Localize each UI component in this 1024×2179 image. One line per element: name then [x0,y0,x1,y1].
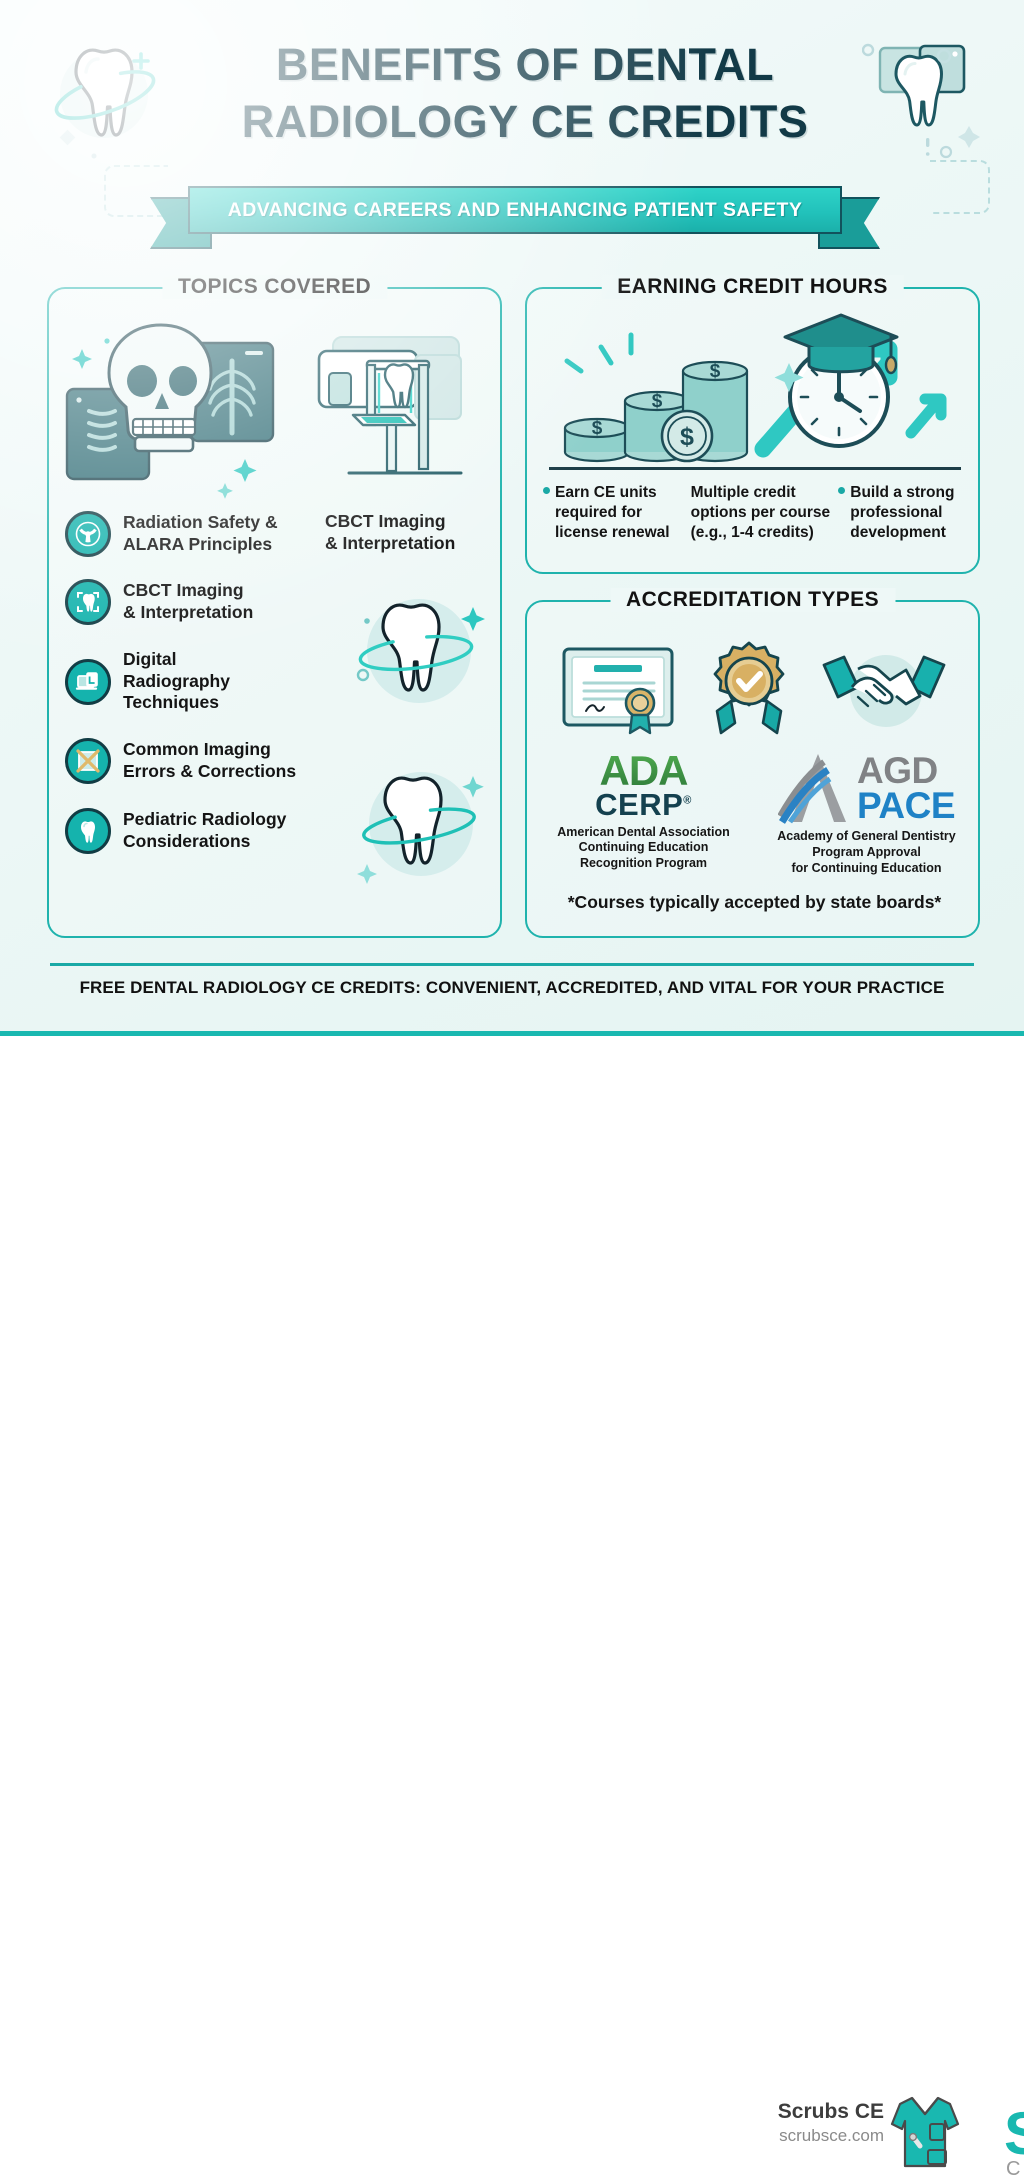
topic-1-line1: CBCT Imaging [123,580,253,602]
svg-text:$: $ [592,418,603,439]
credit-column-2: Build a strong professional development [838,483,968,543]
topic-row-0[interactable]: Radiation Safety & ALARA Principles [65,511,490,557]
credit-1-line1: Multiple credit [691,483,833,503]
topic-row-3[interactable]: Common Imaging Errors & Corrections [65,738,490,784]
topic-1-line2: & Interpretation [123,602,253,624]
accreditation-logos: ADA CERP® American Dental Association Co… [541,752,969,876]
credit-baseline [549,467,961,470]
topic-0-line1: Radiation Safety & [123,512,278,534]
scrub-top-icon [890,2094,960,2178]
footer-tagline: FREE DENTAL RADIOLOGY CE CREDITS: CONVEN… [0,978,1024,998]
infographic-canvas: BENEFITS OF DENTAL RADIOLOGY CE CREDITS … [0,0,1024,1036]
accreditation-icons [549,630,959,748]
credit-0-line2: required for [543,503,685,523]
title-line-2: RADIOLOGY CE CREDITS [175,93,875,150]
credit-0-line3: license renewal [543,523,685,543]
topic-2-line3: Techniques [123,692,230,714]
agd-lockup: AGD PACE [764,752,969,824]
brand-footer: Scrubs CE scrubsce.com S C [0,1041,1024,1154]
topic-2-line2: Radiography [123,671,230,693]
topic-row-2[interactable]: Digital Radiography Techniques [65,649,490,714]
subtitle-ribbon: ADVANCING CAREERS AND ENHANCING PATIENT … [150,186,880,244]
ada-sub-line2: Continuing Education [541,840,746,856]
topic-4-line1: Pediatric Radiology [123,809,286,831]
page-title: BENEFITS OF DENTAL RADIOLOGY CE CREDITS [175,36,875,150]
bullet-icon-0 [543,487,550,494]
circle-decor-icon [930,42,958,70]
credit-column-0: Earn CE units required for license renew… [543,483,685,543]
error-x-icon [65,738,111,784]
accreditation-note: *Courses typically accepted by state boa… [527,892,982,913]
credit-0-line1: Earn CE units [555,484,657,501]
cerp-wordmark: CERP® [541,789,746,820]
cerp-text: CERP [595,787,683,822]
brand-name: Scrubs CE [778,2099,884,2124]
topic-3-line2: Errors & Corrections [123,761,296,783]
ada-cerp-logo: ADA CERP® American Dental Association Co… [541,752,746,876]
topics-panel-title: TOPICS COVERED [162,275,387,299]
brand-text-block: Scrubs CE scrubsce.com [778,2099,884,2147]
earning-credit-hours-panel: EARNING CREDIT HOURS $ $ [525,287,980,574]
radiation-icon [65,511,111,557]
pace-wordmark: PACE [857,788,955,823]
tooth-icon [65,808,111,854]
topic-2-line1: Digital [123,649,230,671]
header: BENEFITS OF DENTAL RADIOLOGY CE CREDITS … [0,0,1024,258]
topics-list: Radiation Safety & ALARA Principles CBCT… [65,511,490,870]
agd-sub-line3: for Continuing Education [764,861,969,877]
accreditation-types-panel: ACCREDITATION TYPES [525,600,980,938]
topic-row-1[interactable]: CBCT Imaging & Interpretation [65,579,490,625]
award-medal-icon [701,639,797,739]
agd-sub-line2: Program Approval [764,845,969,861]
topic-0-line2: ALARA Principles [123,534,278,556]
topic-4-line2: Considerations [123,831,286,853]
ada-sub-line1: American Dental Association [541,825,746,841]
bullet-icon-2 [838,487,845,494]
agd-wordmark: AGD [857,753,955,788]
credit-columns: Earn CE units required for license renew… [543,483,968,543]
title-line-1: BENEFITS OF DENTAL [175,36,875,93]
credit-1-line3: (e.g., 1-4 credits) [691,523,833,543]
brand-url[interactable]: scrubsce.com [778,2125,884,2147]
topic-row-4[interactable]: Pediatric Radiology Considerations [65,808,490,854]
svg-text:$: $ [710,361,721,382]
credit-panel-title: EARNING CREDIT HOURS [601,275,904,299]
brand-letter-s: S [1004,2104,1024,2164]
ribbon-label: ADVANCING CAREERS AND ENHANCING PATIENT … [228,199,803,222]
ada-wordmark: ADA [541,752,746,791]
svg-text:$: $ [652,391,663,412]
topics-covered-panel: TOPICS COVERED [47,287,502,938]
monitor-icon [65,659,111,705]
accred-panel-title: ACCREDITATION TYPES [610,588,895,612]
svg-text:$: $ [680,423,694,451]
credit-2-line2: professional [838,503,968,523]
tooth-xray-illustration [862,34,990,164]
ada-sub-line3: Recognition Program [541,856,746,872]
agd-sub-line1: Academy of General Dentistry [764,829,969,845]
agd-arch-icon [778,752,854,824]
tooth-orbit-illustration [46,32,164,164]
credit-column-1: Multiple credit options per course (e.g.… [691,483,833,543]
credit-1-line2: options per course [691,503,833,523]
brand-letter-c: C [1006,2159,1024,2179]
dashed-decor-right [930,160,990,214]
topic-3-line1: Common Imaging [123,739,296,761]
agd-pace-logo: AGD PACE Academy of General Dentistry Pr… [764,752,969,876]
handshake-icon [820,647,948,731]
tagline-divider [50,963,974,966]
topics-artwork [49,311,504,511]
agd-wordmarks: AGD PACE [857,753,955,823]
registered-mark: ® [683,794,692,806]
ribbon-body: ADVANCING CAREERS AND ENHANCING PATIENT … [188,186,842,234]
credit-2-line1: Build a strong [850,484,954,501]
credit-artwork: $ $ $ $ [539,309,969,464]
certificate-icon [560,641,678,737]
tooth-scan-icon [65,579,111,625]
credit-2-line3: development [838,523,968,543]
